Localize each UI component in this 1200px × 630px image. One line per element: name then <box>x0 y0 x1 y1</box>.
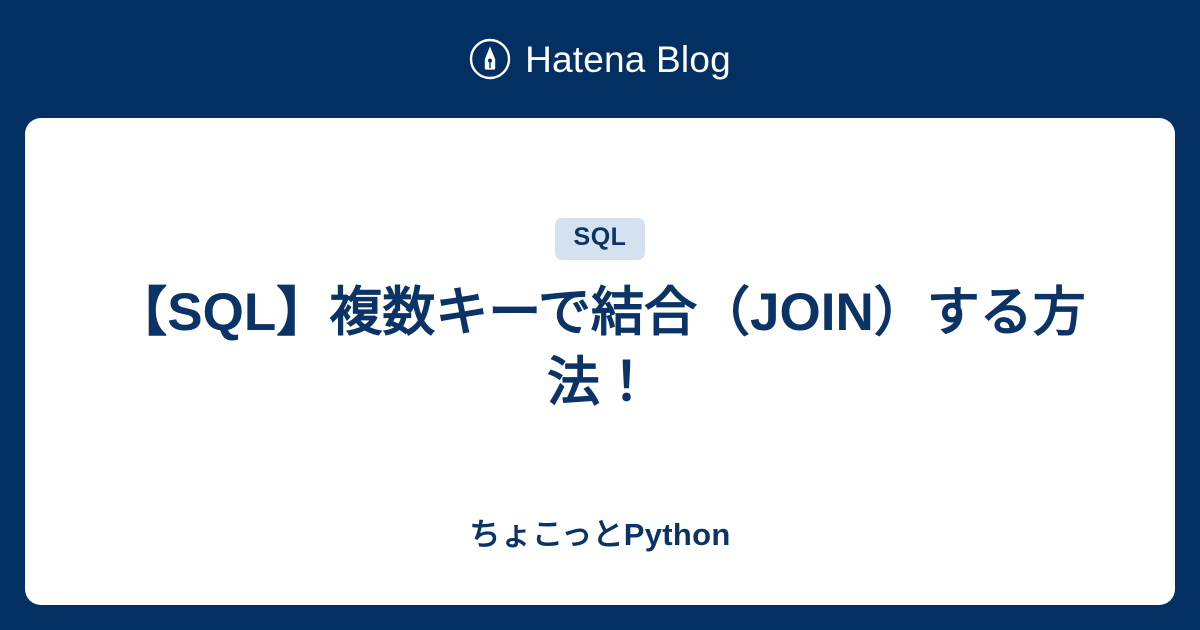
ogp-card-root: Hatena Blog SQL 【SQL】複数キーで結合（JOIN）する方法！ … <box>0 0 1200 630</box>
entry-title: 【SQL】複数キーで結合（JOIN）する方法！ <box>85 278 1115 418</box>
category-badge[interactable]: SQL <box>555 218 646 260</box>
hatena-blog-brand-name: Hatena Blog <box>525 41 731 78</box>
hatena-pen-nib-icon <box>469 38 511 80</box>
blog-title: ちょこっとPython <box>85 516 1115 553</box>
entry-card-inner: SQL 【SQL】複数キーで結合（JOIN）する方法！ ちょこっとPython <box>25 118 1175 605</box>
category-badge-row: SQL <box>25 218 1175 260</box>
entry-card: SQL 【SQL】複数キーで結合（JOIN）する方法！ ちょこっとPython <box>25 118 1175 605</box>
hatena-blog-brand-bar: Hatena Blog <box>0 0 1200 118</box>
